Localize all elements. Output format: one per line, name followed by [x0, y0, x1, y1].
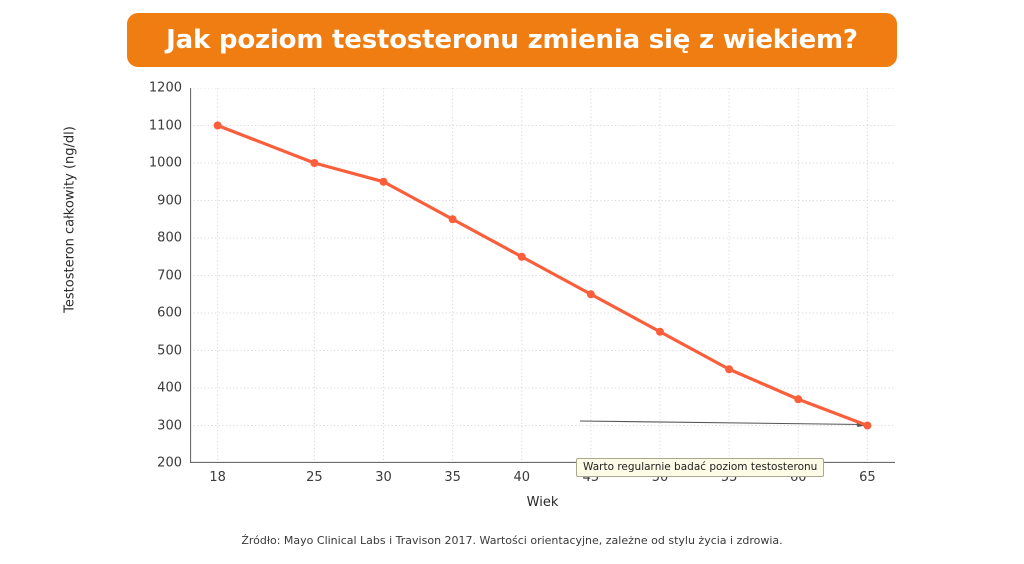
y-tick-label: 300	[157, 419, 182, 432]
y-tick-label: 1100	[149, 119, 182, 132]
x-tick-label: 65	[859, 471, 876, 484]
annotation-label: Warto regularnie badać poziom testostero…	[583, 462, 817, 473]
y-tick-label: 600	[157, 307, 182, 320]
plot-area	[190, 88, 895, 463]
y-tick-label: 400	[157, 382, 182, 395]
x-tick-label: 18	[209, 471, 226, 484]
axis-spines	[190, 88, 895, 463]
data-point[interactable]	[214, 122, 222, 130]
data-point[interactable]	[380, 178, 388, 186]
annotation-arrow-line	[580, 421, 863, 425]
y-tick-label: 800	[157, 232, 182, 245]
x-tick-label: 35	[444, 471, 461, 484]
grid-lines	[190, 88, 895, 463]
data-point[interactable]	[587, 290, 595, 298]
data-point[interactable]	[449, 215, 457, 223]
title-banner: Jak poziom testosteronu zmienia się z wi…	[127, 13, 897, 67]
line-chart-svg	[190, 88, 895, 463]
y-tick-label: 900	[157, 194, 182, 207]
x-tick-label: 25	[306, 471, 323, 484]
x-tick-label: 40	[513, 471, 530, 484]
y-axis-label: Testosteron całkowity (ng/dl)	[63, 90, 78, 350]
annotation-arrow	[580, 421, 866, 427]
x-axis-label: Wiek	[190, 495, 895, 510]
data-point[interactable]	[518, 253, 526, 261]
y-tick-label: 700	[157, 269, 182, 282]
data-point[interactable]	[794, 395, 802, 403]
y-tick-label: 1000	[149, 157, 182, 170]
data-point-markers	[214, 122, 872, 430]
data-point[interactable]	[863, 422, 871, 430]
data-point[interactable]	[656, 328, 664, 336]
y-axis-tick-labels: 200300400500600700800900100011001200	[120, 88, 182, 463]
y-tick-label: 1200	[149, 82, 182, 95]
data-point[interactable]	[310, 159, 318, 167]
y-tick-label: 200	[157, 457, 182, 470]
data-point[interactable]	[725, 365, 733, 373]
chart-figure: Testosteron całkowity (ng/dl) 2003004005…	[0, 72, 1024, 518]
annotation-callout: Warto regularnie badać poziom testostero…	[576, 458, 824, 477]
source-note: Źródło: Mayo Clinical Labs i Travison 20…	[0, 534, 1024, 547]
y-tick-label: 500	[157, 344, 182, 357]
page-title: Jak poziom testosteronu zmienia się z wi…	[166, 25, 858, 55]
x-tick-label: 30	[375, 471, 392, 484]
